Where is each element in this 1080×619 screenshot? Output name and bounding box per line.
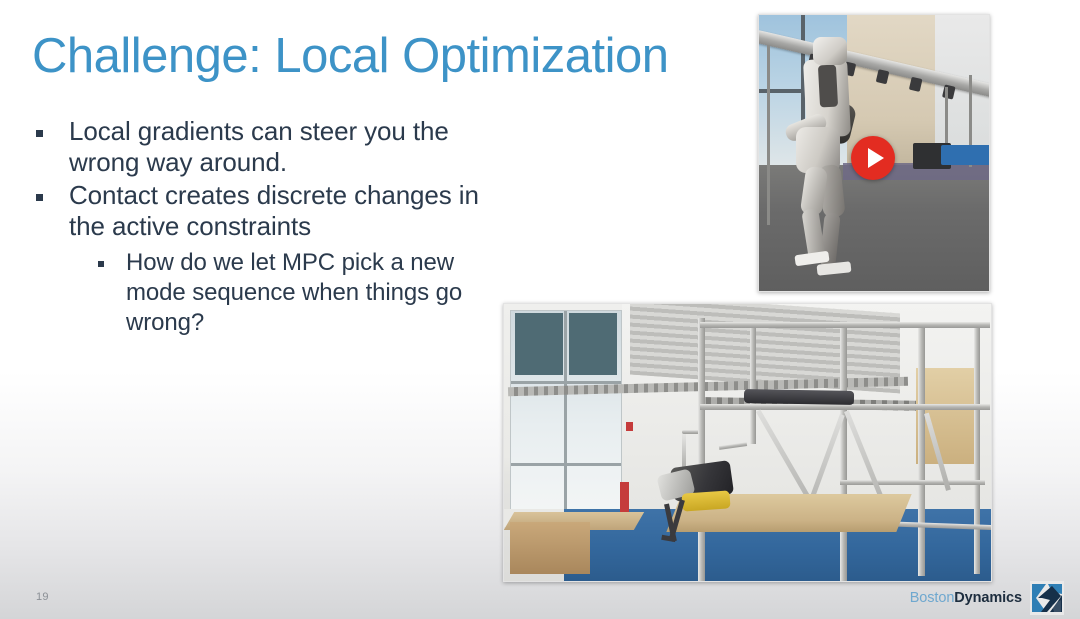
slide-canvas: Challenge: Local Optimization Local grad… bbox=[0, 0, 1080, 619]
brand-word-dynamics: Dynamics bbox=[954, 590, 1022, 606]
list-item-label: Contact creates discrete changes in the … bbox=[69, 180, 506, 242]
page-title: Challenge: Local Optimization bbox=[32, 27, 668, 85]
bullet-square-icon bbox=[36, 194, 43, 201]
play-icon bbox=[868, 148, 884, 168]
scaffold-scene-illustration bbox=[504, 304, 991, 581]
boston-dynamics-mark-icon bbox=[1030, 581, 1064, 615]
bullet-square-icon bbox=[36, 130, 43, 137]
list-item: Contact creates discrete changes in the … bbox=[36, 180, 506, 242]
brand-word-boston: Boston bbox=[910, 590, 955, 606]
brand-wordmark: BostonDynamics bbox=[910, 590, 1022, 606]
play-button[interactable] bbox=[851, 136, 895, 180]
bullet-list: Local gradients can steer you the wrong … bbox=[36, 116, 506, 340]
list-item-sub: How do we let MPC pick a new mode sequen… bbox=[36, 248, 506, 338]
list-item-sub-label: How do we let MPC pick a new mode sequen… bbox=[126, 248, 506, 338]
page-number: 19 bbox=[36, 591, 49, 603]
media-thumbnail-scaffold[interactable] bbox=[503, 303, 992, 582]
list-item: Local gradients can steer you the wrong … bbox=[36, 116, 506, 178]
list-item-label: Local gradients can steer you the wrong … bbox=[69, 116, 506, 178]
brand-logo: BostonDynamics bbox=[910, 581, 1064, 615]
bullet-square-icon bbox=[98, 261, 104, 267]
